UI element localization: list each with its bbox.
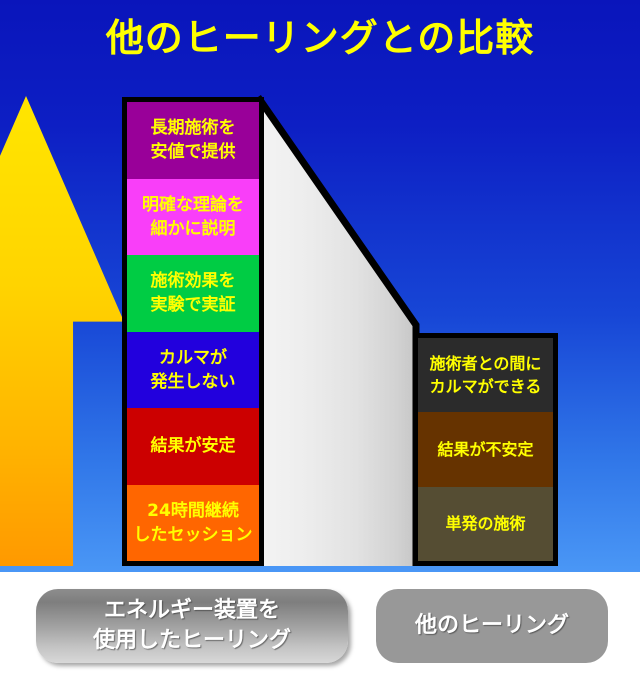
grey-slope-graphic <box>258 97 416 566</box>
energy-device-block-3-line-1: 施術効果を <box>151 269 236 293</box>
energy-device-block-3[interactable]: 施術効果を実験で実証 <box>127 255 259 332</box>
other-healing-block-1-line-1: 施術者との間に <box>430 352 542 375</box>
energy-device-block-1-line-2: 安値で提供 <box>151 140 236 164</box>
energy-device-block-2[interactable]: 明確な理論を細かに説明 <box>127 179 259 256</box>
comparison-panel: 他のヒーリングとの比較 長期施術を安値で提供明確な理論を細かに説明施術効果を実験… <box>0 0 640 572</box>
other-healing-column: 施術者との間にカルマができる結果が不安定単発の施術 <box>413 333 558 566</box>
up-arrow-graphic <box>0 96 124 566</box>
other-healing-block-3-line-1: 単発の施術 <box>445 512 525 535</box>
caption-energy-device-line-1: エネルギー装置を <box>104 596 280 626</box>
caption-other-healing[interactable]: 他のヒーリング <box>376 589 608 663</box>
other-healing-block-2[interactable]: 結果が不安定 <box>418 412 553 486</box>
page-title: 他のヒーリングとの比較 <box>0 14 640 62</box>
slide-canvas: 他のヒーリングとの比較 長期施術を安値で提供明確な理論を細かに説明施術効果を実験… <box>0 0 640 700</box>
other-healing-block-1-line-2: カルマができる <box>430 375 542 398</box>
energy-device-block-3-line-2: 実験で実証 <box>151 293 236 317</box>
energy-device-block-2-line-2: 細かに説明 <box>151 217 236 241</box>
energy-device-block-4-line-2: 発生しない <box>151 370 236 394</box>
energy-device-block-6-line-1: 24時間継続 <box>147 499 239 523</box>
energy-device-block-4-line-1: カルマが <box>159 346 227 370</box>
energy-device-block-5[interactable]: 結果が安定 <box>127 408 259 485</box>
energy-device-block-5-line-1: 結果が安定 <box>151 434 236 458</box>
energy-device-block-6[interactable]: 24時間継続したセッション <box>127 485 259 562</box>
energy-device-block-2-line-1: 明確な理論を <box>142 193 244 217</box>
other-healing-block-3[interactable]: 単発の施術 <box>418 487 553 561</box>
caption-other-healing-line-1: 他のヒーリング <box>415 611 569 641</box>
caption-energy-device-line-2: 使用したヒーリング <box>93 626 291 656</box>
other-healing-block-2-line-1: 結果が不安定 <box>437 438 533 461</box>
other-healing-block-1[interactable]: 施術者との間にカルマができる <box>418 338 553 412</box>
energy-device-block-1-line-1: 長期施術を <box>151 116 236 140</box>
energy-device-block-1[interactable]: 長期施術を安値で提供 <box>127 102 259 179</box>
energy-device-block-6-line-2: したセッション <box>134 523 253 547</box>
caption-energy-device[interactable]: エネルギー装置を使用したヒーリング <box>36 589 348 663</box>
energy-device-column: 長期施術を安値で提供明確な理論を細かに説明施術効果を実験で実証カルマが発生しない… <box>122 97 264 566</box>
energy-device-block-4[interactable]: カルマが発生しない <box>127 332 259 409</box>
